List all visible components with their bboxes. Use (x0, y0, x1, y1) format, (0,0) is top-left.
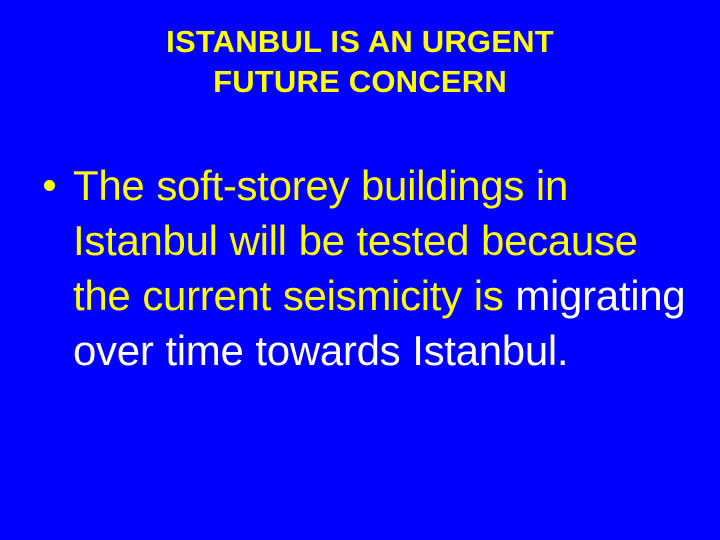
bullet-list-item: The soft-storey buildings in Istanbul wi… (38, 158, 686, 378)
slide-body: The soft-storey buildings in Istanbul wi… (38, 158, 686, 378)
slide-title-line-1: ISTANBUL IS AN URGENT (0, 22, 720, 62)
bullet-point-icon (44, 180, 55, 191)
slide-title: ISTANBUL IS AN URGENT FUTURE CONCERN (0, 22, 720, 102)
bullet-item-text: The soft-storey buildings in Istanbul wi… (73, 158, 686, 378)
slide-title-line-2: FUTURE CONCERN (0, 62, 720, 102)
presentation-slide: ISTANBUL IS AN URGENT FUTURE CONCERN The… (0, 0, 720, 540)
